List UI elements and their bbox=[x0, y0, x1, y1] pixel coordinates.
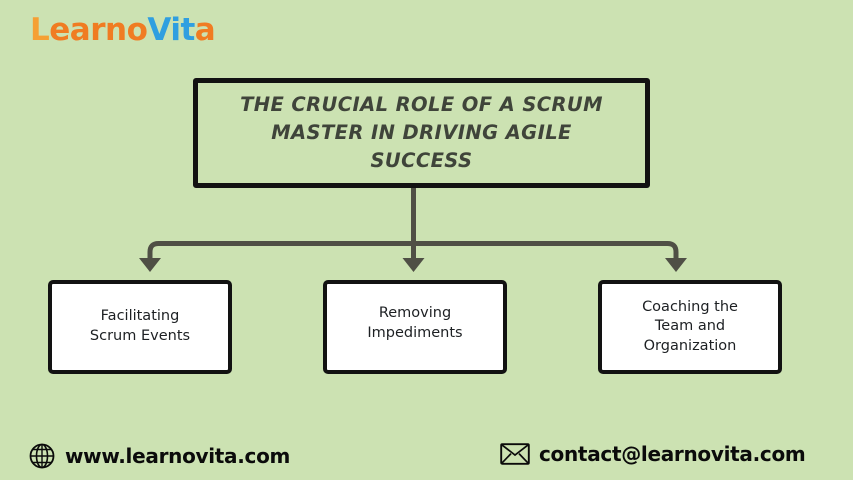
title-box: THE CRUCIAL ROLE OF A SCRUM MASTER IN DR… bbox=[193, 78, 650, 188]
leaf-box-label: Removing Impediments bbox=[367, 304, 462, 343]
leaf-box-coaching-the-team-and-organization: Coaching the Team and Organization bbox=[598, 280, 782, 374]
logo-segment-l: L bbox=[30, 12, 49, 48]
leaf-box-facilitating-scrum-events: Facilitating Scrum Events bbox=[48, 280, 232, 374]
website-text: www.learnovita.com bbox=[65, 444, 290, 468]
leaf-box-label: Coaching the Team and Organization bbox=[642, 298, 738, 357]
email-text: contact@learnovita.com bbox=[539, 442, 805, 466]
slide-canvas: LearnoVita THE CRUCIAL ROLE OF A SCRUM M… bbox=[0, 0, 853, 480]
arrow-head-center bbox=[403, 258, 425, 272]
connector-diagram bbox=[0, 0, 853, 480]
arrow-head-left bbox=[139, 258, 161, 272]
footer-email[interactable]: contact@learnovita.com bbox=[500, 442, 805, 466]
globe-icon bbox=[28, 442, 56, 470]
logo-segment-vit: Vit bbox=[147, 12, 194, 48]
logo-segment-a: a bbox=[195, 12, 215, 48]
envelope-icon bbox=[500, 442, 530, 466]
leaf-box-label: Facilitating Scrum Events bbox=[90, 307, 190, 346]
logo-segment-earno: earno bbox=[49, 12, 147, 48]
footer-website[interactable]: www.learnovita.com bbox=[28, 442, 290, 470]
learnovita-logo: LearnoVita bbox=[30, 15, 215, 46]
leaf-box-removing-impediments: Removing Impediments bbox=[323, 280, 507, 374]
page-title: THE CRUCIAL ROLE OF A SCRUM MASTER IN DR… bbox=[226, 91, 617, 174]
arrow-head-right bbox=[665, 258, 687, 272]
connector-bar bbox=[150, 244, 676, 263]
